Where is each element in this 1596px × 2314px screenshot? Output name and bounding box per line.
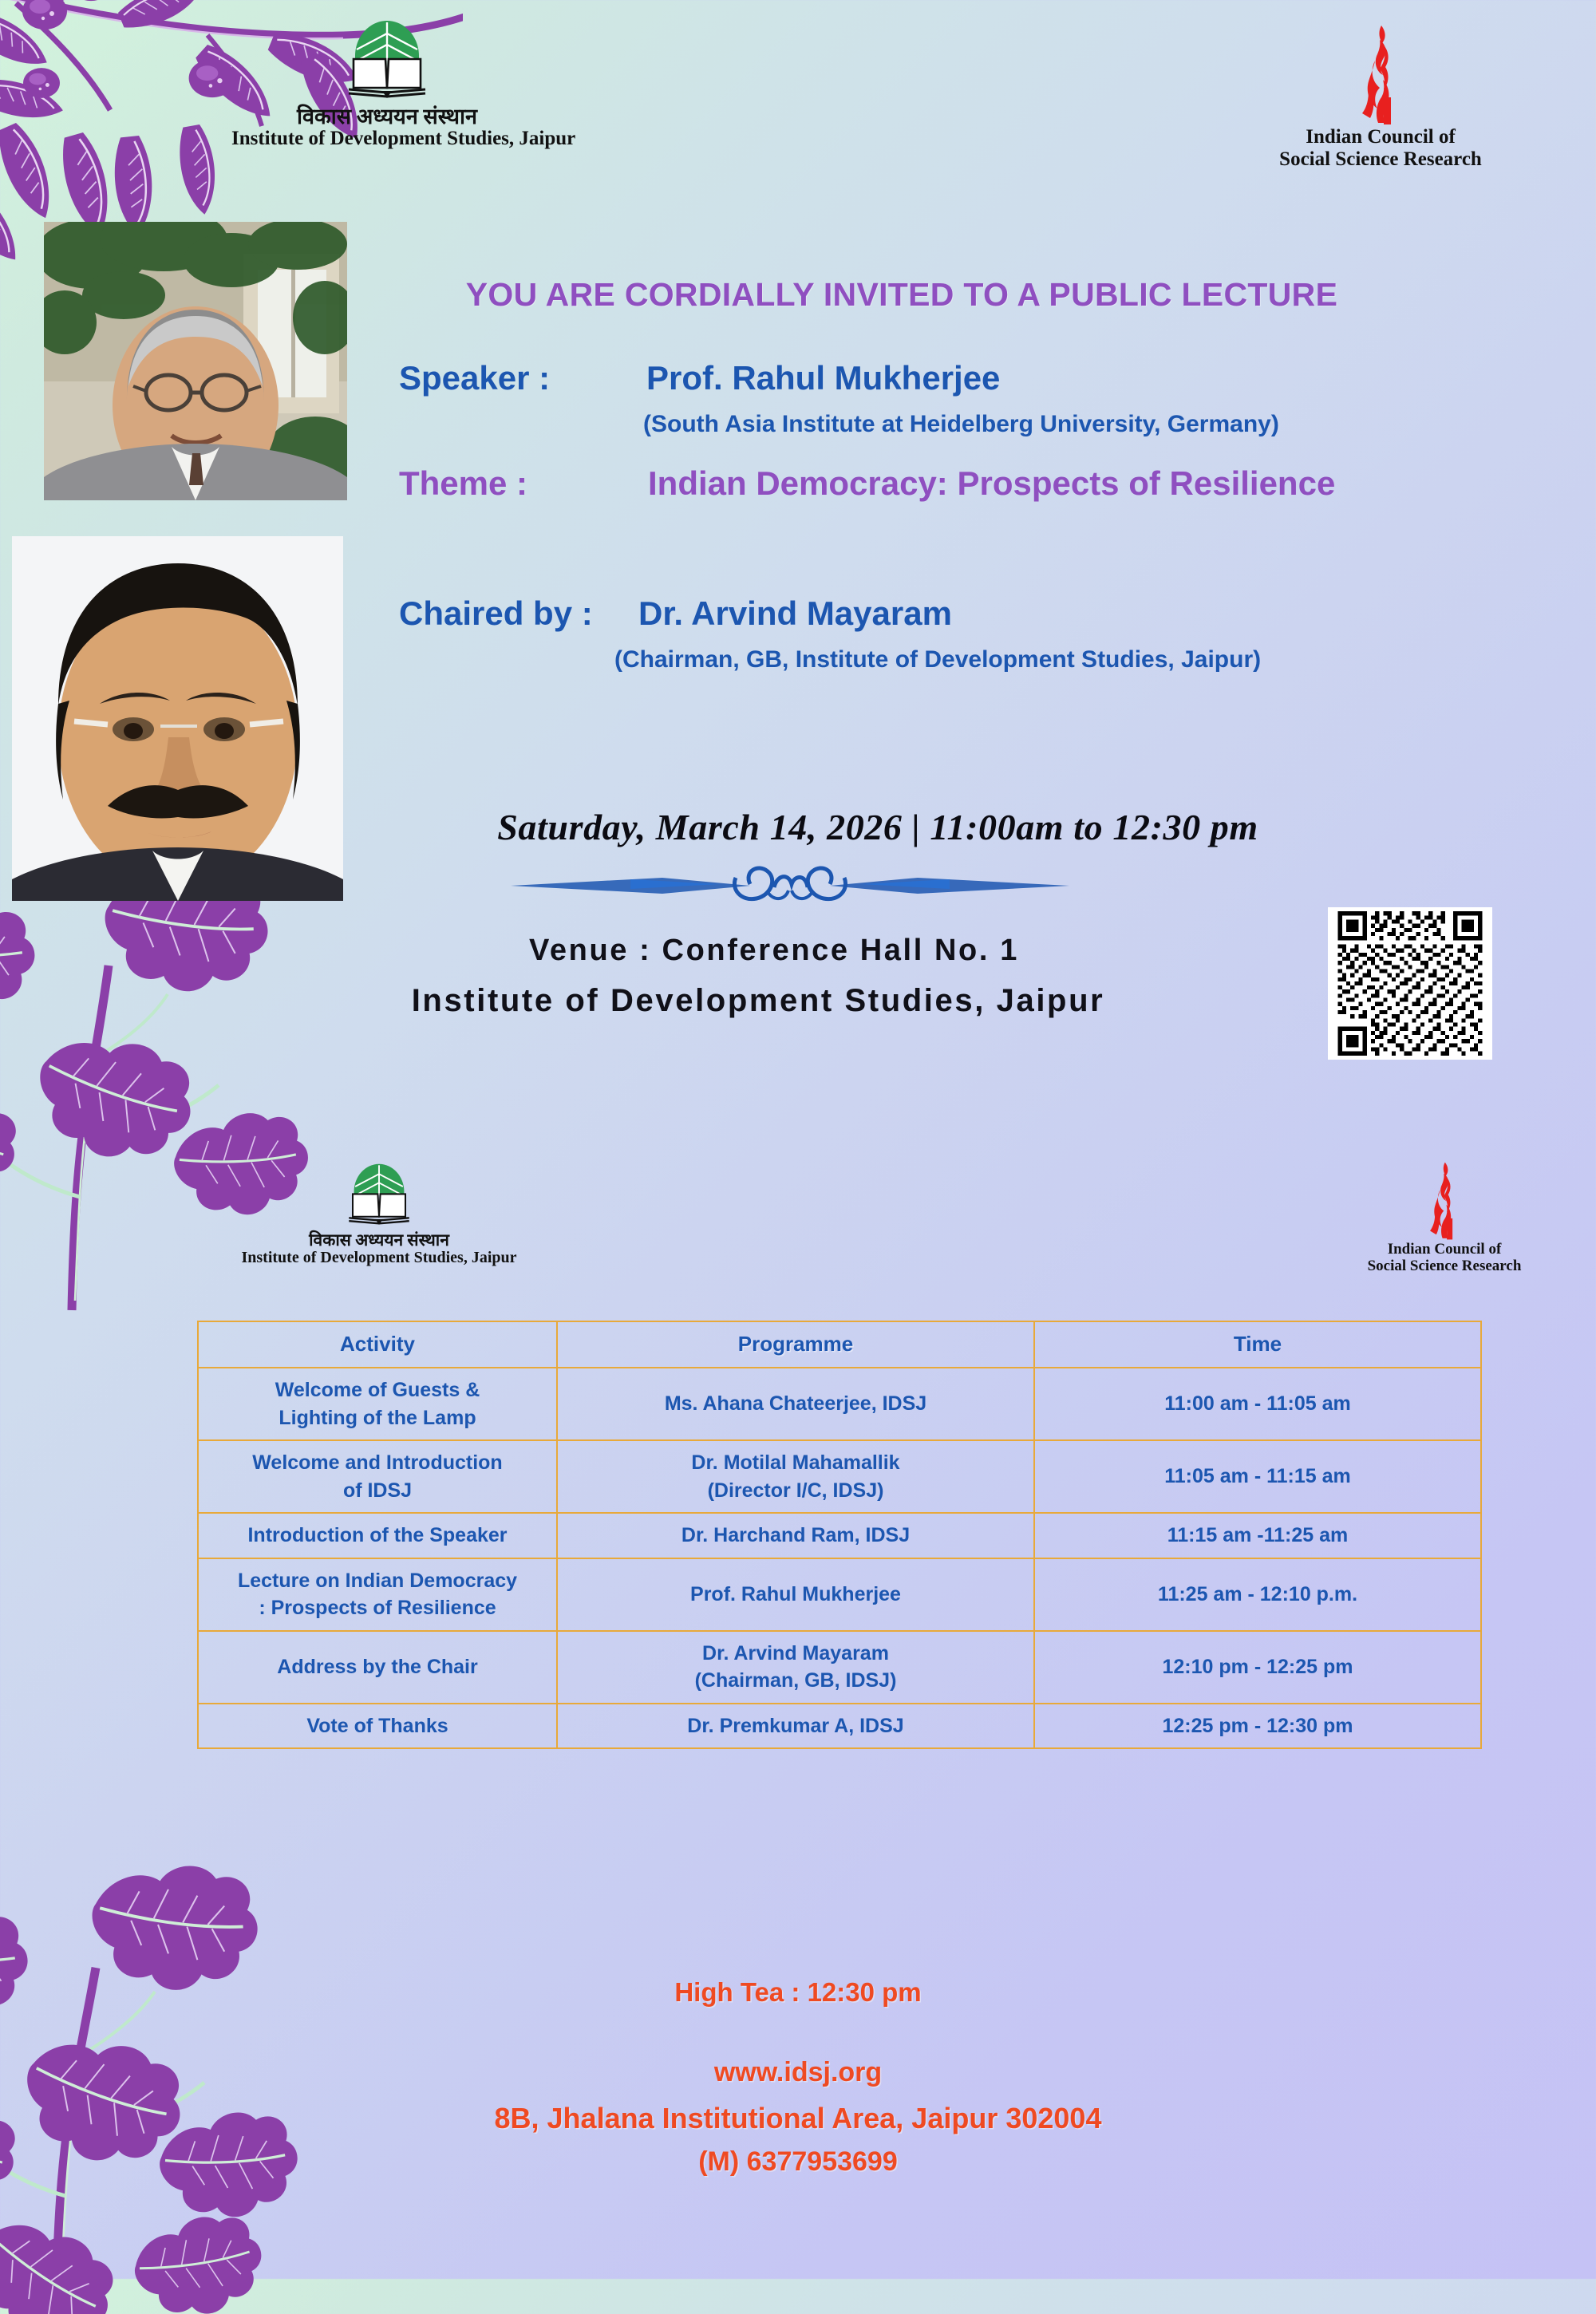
row-person: Ms. Ahana Chateerjee, IDSJ [557,1368,1034,1440]
theme-label: Theme : [399,464,527,503]
row-activity: Introduction of the Speaker [198,1513,557,1558]
chair-affiliation: (Chairman, GB, Institute of Development … [614,646,1261,673]
column-header-time: Time [1034,1321,1481,1368]
icssr-line1: Indian Council of [1221,126,1540,148]
icssr-flame-icon [1351,24,1410,126]
row-time: 12:25 pm - 12:30 pm [1034,1704,1481,1749]
table-row: Vote of ThanksDr. Premkumar A, IDSJ12:25… [198,1704,1481,1749]
chair-label: Chaired by : [399,594,593,633]
table-row: Lecture on Indian Democracy: Prospects o… [198,1558,1481,1631]
table-row: Address by the ChairDr. Arvind Mayaram(C… [198,1631,1481,1704]
idsj-book-leaf-icon [342,18,432,104]
row-time: 11:15 am -11:25 am [1034,1513,1481,1558]
invitation-headline: YOU ARE CORDIALLY INVITED TO A PUBLIC LE… [383,276,1420,314]
icssr-logo-mid: Indian Council of Social Science Researc… [1325,1161,1564,1275]
row-activity: Lecture on Indian Democracy: Prospects o… [198,1558,557,1631]
mobile-number: (M) 6377953699 [0,2146,1596,2178]
idsj-book-leaf-icon-mid [344,1161,414,1230]
row-person: Dr. Motilal Mahamallik(Director I/C, IDS… [557,1440,1034,1513]
event-datetime: Saturday, March 14, 2026 | 11:00am to 12… [255,806,1500,848]
idsj-english-name-mid: Institute of Development Studies, Jaipur [223,1250,535,1266]
speaker-label: Speaker : [399,359,550,397]
idsj-logo-mid: विकास अध्ययन संस्थान Institute of Develo… [223,1161,535,1266]
row-activity: Welcome of Guests &Lighting of the Lamp [198,1368,557,1440]
speaker-affiliation: (South Asia Institute at Heidelberg Univ… [643,411,1279,438]
idsj-logo-top: विकास अध्ययन संस्थान Institute of Develo… [231,18,543,150]
row-person: Dr. Arvind Mayaram(Chairman, GB, IDSJ) [557,1631,1034,1704]
column-header-activity: Activity [198,1321,557,1368]
theme-value: Indian Democracy: Prospects of Resilienc… [648,464,1335,503]
postal-address: 8B, Jhalana Institutional Area, Jaipur 3… [0,2102,1596,2135]
row-person: Dr. Harchand Ram, IDSJ [557,1513,1034,1558]
website-link[interactable]: www.idsj.org [0,2057,1596,2088]
table-row: Introduction of the SpeakerDr. Harchand … [198,1513,1481,1558]
programme-title: Programme [557,1321,1034,1368]
row-activity: Address by the Chair [198,1631,557,1704]
high-tea-note: High Tea : 12:30 pm [0,1977,1596,2008]
row-time: 12:10 pm - 12:25 pm [1034,1631,1481,1704]
programme-table: Activity Programme Time Welcome of Guest… [197,1321,1482,1749]
row-person: Dr. Premkumar A, IDSJ [557,1704,1034,1749]
icssr-line2-mid: Social Science Research [1325,1258,1564,1274]
row-activity: Welcome and Introductionof IDSJ [198,1440,557,1513]
venue-line-1: Venue : Conference Hall No. 1 [255,934,1293,968]
idsj-hindi-name: विकास अध्ययन संस्थान [231,105,543,128]
qr-code-icon[interactable] [1328,907,1492,1060]
row-person: Prof. Rahul Mukherjee [557,1558,1034,1631]
icssr-flame-icon-mid [1421,1161,1468,1241]
icssr-logo-top: Indian Council of Social Science Researc… [1221,24,1540,171]
table-row: Welcome of Guests &Lighting of the LampM… [198,1368,1481,1440]
ornament-divider-icon [511,860,1069,911]
row-activity: Vote of Thanks [198,1704,557,1749]
speaker-photo [44,222,347,500]
table-header-row: Activity Programme Time [198,1321,1481,1368]
idsj-english-name: Institute of Development Studies, Jaipur [231,128,543,149]
row-time: 11:05 am - 11:15 am [1034,1440,1481,1513]
speaker-name: Prof. Rahul Mukherjee [646,359,1000,397]
icssr-line1-mid: Indian Council of [1325,1241,1564,1258]
table-row: Welcome and Introductionof IDSJDr. Motil… [198,1440,1481,1513]
chair-name: Dr. Arvind Mayaram [638,594,952,633]
row-time: 11:00 am - 11:05 am [1034,1368,1481,1440]
icssr-line2: Social Science Research [1221,148,1540,171]
venue-line-2: Institute of Development Studies, Jaipur [223,983,1293,1019]
idsj-hindi-name-mid: विकास अध्ययन संस्थान [223,1231,535,1249]
row-time: 11:25 am - 12:10 p.m. [1034,1558,1481,1631]
